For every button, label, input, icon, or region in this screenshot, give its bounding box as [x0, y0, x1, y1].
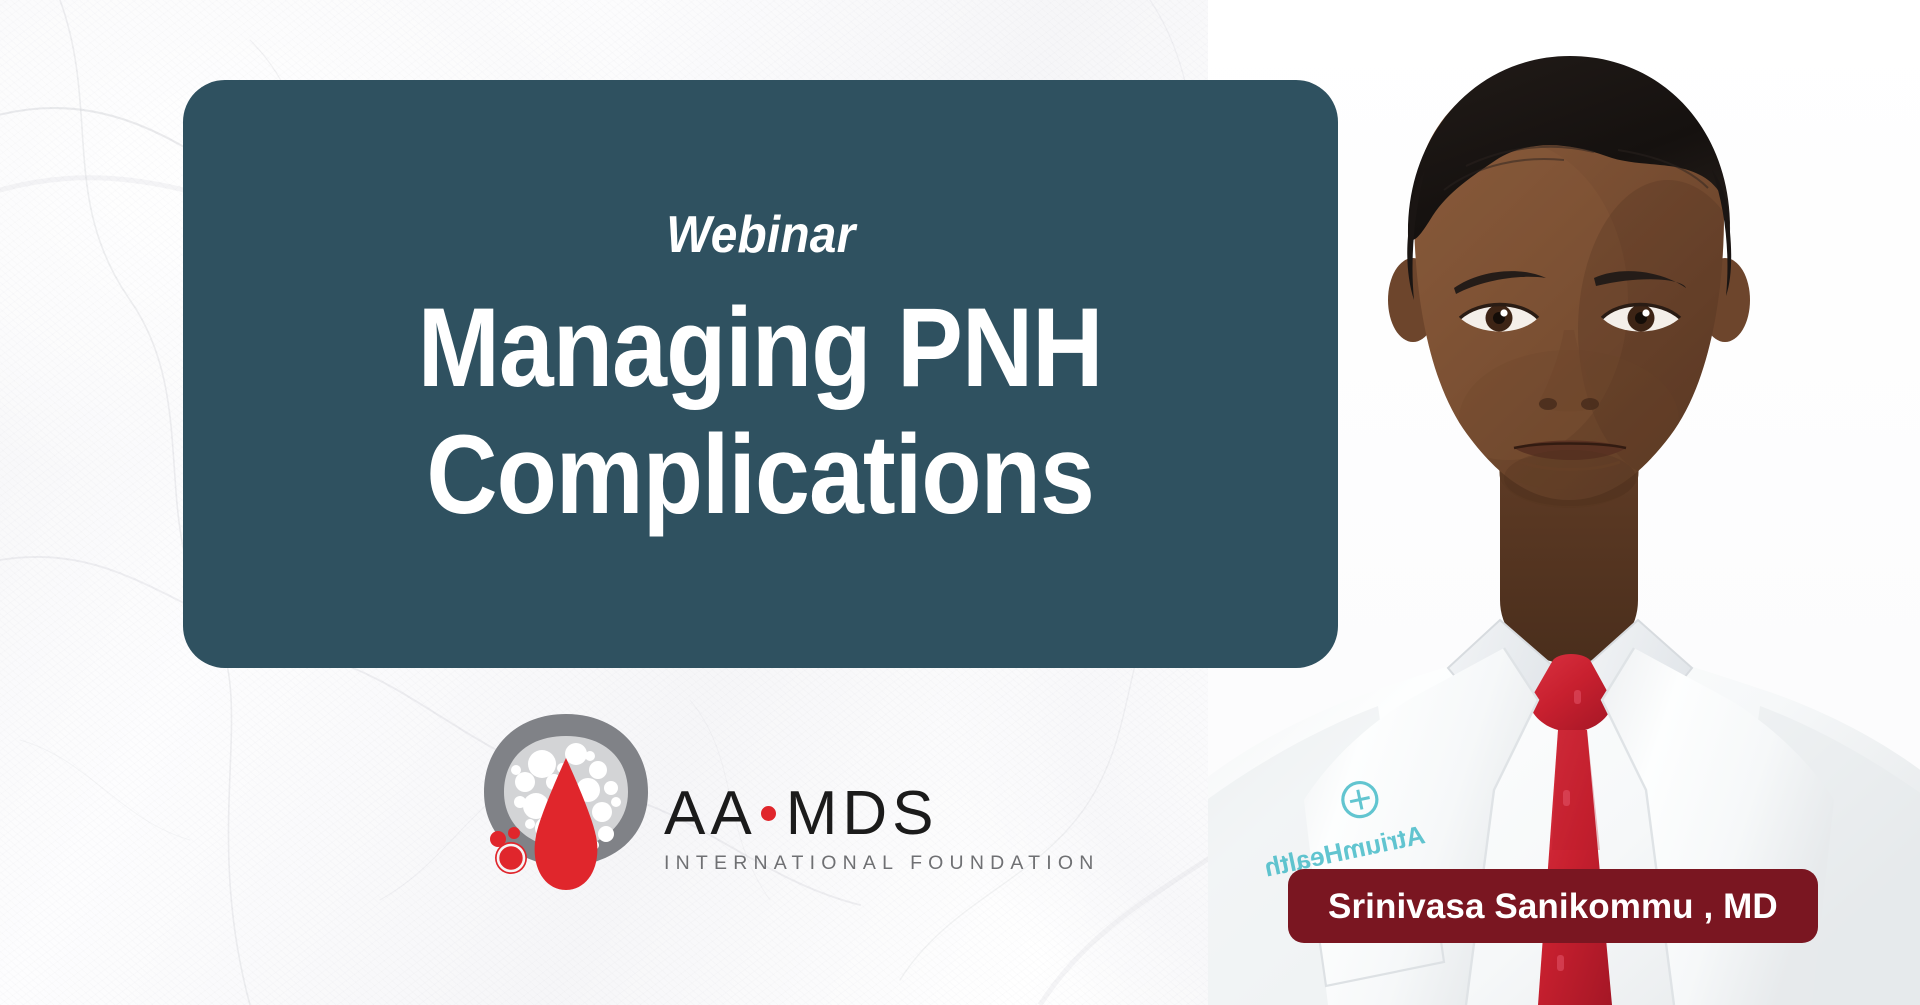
logo-name-part-1: AA [664, 783, 757, 845]
aamds-blood-drop-cell-mark-icon [480, 710, 652, 900]
title-card: Webinar Managing PNH Complications [183, 80, 1338, 668]
kicker-label: Webinar [666, 209, 855, 261]
speaker-name-text: Srinivasa Sanikommu , MD [1328, 889, 1778, 924]
aamds-logo-tagline: INTERNATIONAL FOUNDATION [664, 854, 1100, 874]
speaker-name-banner: Srinivasa Sanikommu , MD [1288, 869, 1818, 943]
page-title: Managing PNH Complications [418, 285, 1103, 538]
logo-separator-dot-icon [761, 806, 776, 821]
aamds-logo: AA MDS INTERNATIONAL FOUNDATION [480, 710, 1100, 900]
aamds-logo-name: AA MDS [664, 783, 1100, 845]
webinar-promo-graphic: AtriumHealth [0, 0, 1920, 1005]
aamds-wordmark: AA MDS INTERNATIONAL FOUNDATION [664, 737, 1100, 874]
headline-line-1: Managing PNH [418, 285, 1103, 412]
logo-name-part-2: MDS [786, 783, 939, 845]
headline-line-2: Complications [418, 412, 1103, 539]
